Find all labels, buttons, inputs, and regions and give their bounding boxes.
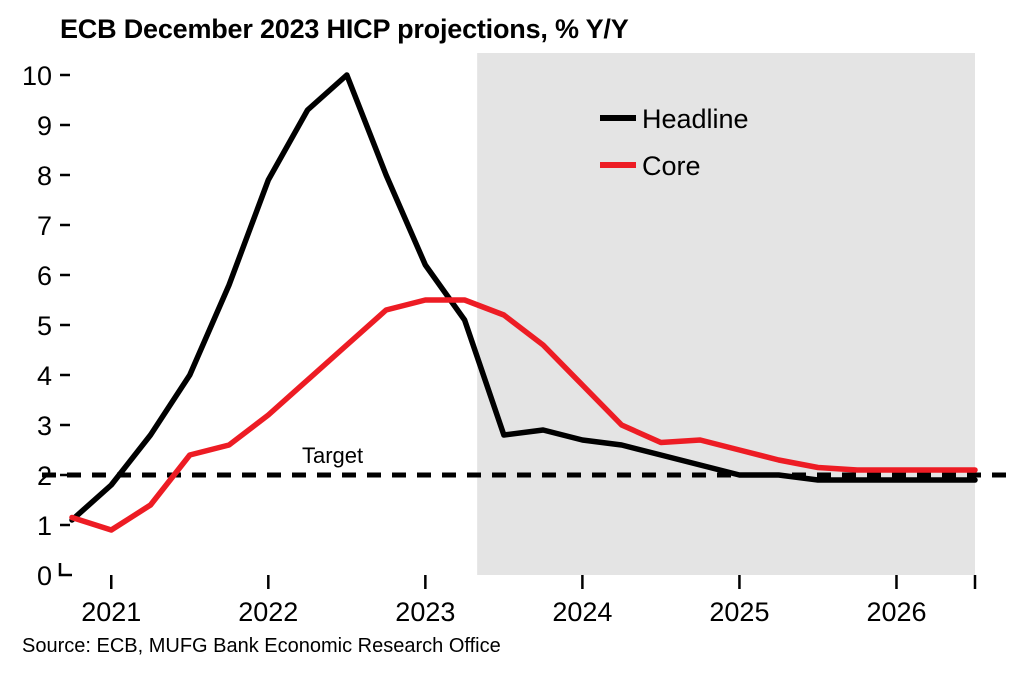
chart-container: ECB December 2023 HICP projections, % Y/… xyxy=(0,0,1022,681)
x-axis-tick-label: 2022 xyxy=(238,597,298,627)
y-axis-tick-label: 1 xyxy=(37,511,52,541)
y-axis-tick-label: 6 xyxy=(37,261,52,291)
x-axis-tick-label: 2023 xyxy=(395,597,455,627)
target-annotation-label: Target xyxy=(302,443,363,468)
y-axis-tick-group: 012345678910 xyxy=(22,61,70,591)
y-axis-tick-label: 0 xyxy=(37,561,52,591)
x-axis-tick-label: 2021 xyxy=(81,597,141,627)
y-axis-tick-label: 10 xyxy=(22,61,52,91)
axis-origin-corner xyxy=(60,563,72,575)
y-axis-tick-label: 9 xyxy=(37,111,52,141)
legend-label-headline: Headline xyxy=(642,104,749,134)
y-axis-tick-label: 4 xyxy=(37,361,52,391)
legend-label-core: Core xyxy=(642,151,701,181)
chart-source-note: Source: ECB, MUFG Bank Economic Research… xyxy=(22,635,501,658)
y-axis-tick-label: 8 xyxy=(37,161,52,191)
x-axis-tick-label: 2026 xyxy=(866,597,926,627)
chart-plot-area: 012345678910 202120222023202420252026 Ta… xyxy=(0,0,1022,681)
x-axis-tick-group: 202120222023202420252026 xyxy=(81,575,975,627)
x-axis-tick-label: 2025 xyxy=(709,597,769,627)
y-axis-tick-label: 7 xyxy=(37,211,52,241)
x-axis-tick-label: 2024 xyxy=(552,597,612,627)
y-axis-tick-label: 3 xyxy=(37,411,52,441)
y-axis-tick-label: 5 xyxy=(37,311,52,341)
axis-group xyxy=(60,563,72,575)
